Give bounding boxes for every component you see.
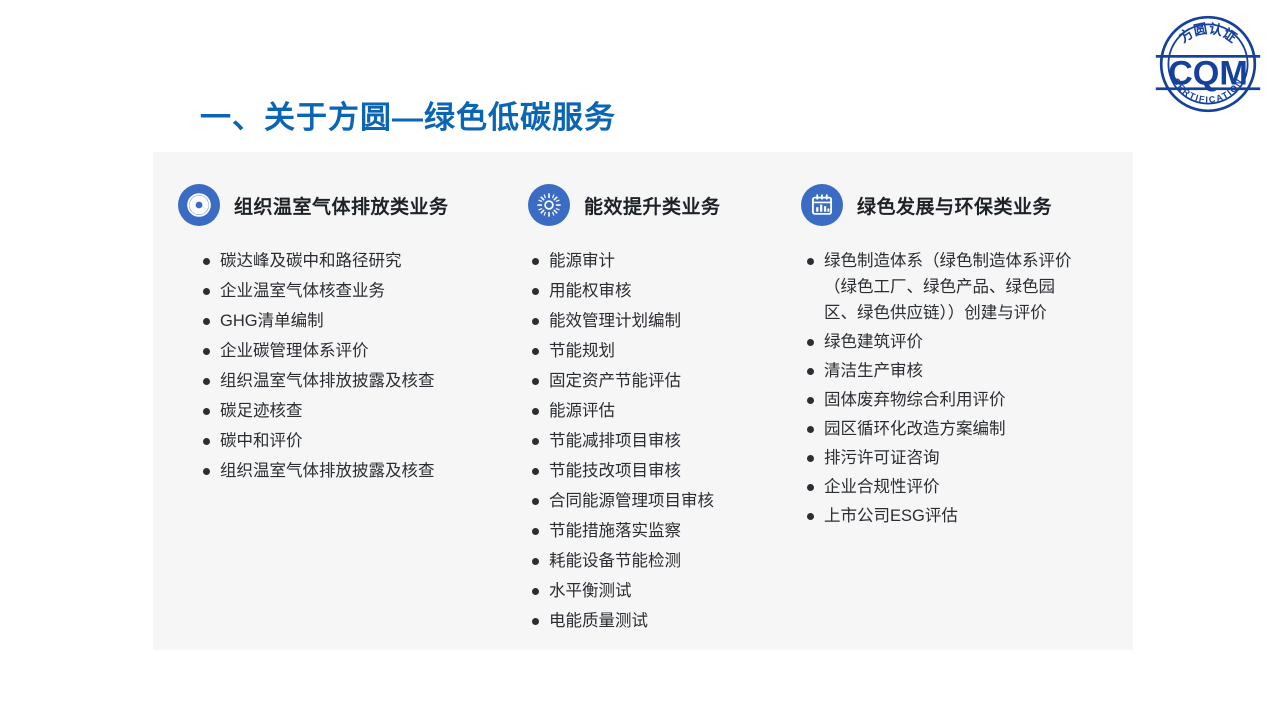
list-item: 节能规划 bbox=[532, 338, 801, 364]
list-item: 耗能设备节能检测 bbox=[532, 548, 801, 574]
service-list-green-development: 绿色制造体系（绿色制造体系评价（绿色工厂、绿色产品、绿色园区、绿色供应链））创建… bbox=[807, 248, 1133, 529]
list-item: 水平衡测试 bbox=[532, 578, 801, 604]
list-item: 节能措施落实监察 bbox=[532, 518, 801, 544]
list-item: 电能质量测试 bbox=[532, 608, 801, 634]
list-item: 能效管理计划编制 bbox=[532, 308, 801, 334]
cqm-certification-logo: 方圆认证 CERTIFICATION CQM bbox=[1154, 8, 1262, 120]
list-item: 上市公司ESG评估 bbox=[807, 503, 1133, 529]
list-item: 园区循环化改造方案编制 bbox=[807, 416, 1133, 442]
list-item: 碳中和评价 bbox=[203, 428, 519, 454]
column-green-development: 绿色发展与环保类业务 绿色制造体系（绿色制造体系评价（绿色工厂、绿色产品、绿色园… bbox=[801, 152, 1133, 532]
list-item: 组织温室气体排放披露及核查 bbox=[203, 368, 519, 394]
list-item: 清洁生产审核 bbox=[807, 358, 1133, 384]
page-title: 一、关于方圆—绿色低碳服务 bbox=[200, 92, 616, 137]
services-panel: 组织温室气体排放类业务 碳达峰及碳中和路径研究 企业温室气体核查业务 GHG清单… bbox=[153, 152, 1133, 650]
list-item: GHG清单编制 bbox=[203, 308, 519, 334]
column-energy-efficiency: 能效提升类业务 能源审计 用能权审核 能效管理计划编制 节能规划 固定资产节能评… bbox=[519, 152, 801, 638]
column-header-green-development: 绿色发展与环保类业务 bbox=[801, 184, 1133, 226]
list-item: 企业温室气体核查业务 bbox=[203, 278, 519, 304]
list-item: 组织温室气体排放披露及核查 bbox=[203, 458, 519, 484]
column-title: 组织温室气体排放类业务 bbox=[234, 192, 449, 219]
column-title: 能效提升类业务 bbox=[584, 192, 721, 219]
list-item: 节能减排项目审核 bbox=[532, 428, 801, 454]
sun-icon bbox=[528, 184, 570, 226]
list-item: 固体废弃物综合利用评价 bbox=[807, 387, 1133, 413]
list-item: 合同能源管理项目审核 bbox=[532, 488, 801, 514]
calendar-chart-icon bbox=[801, 184, 843, 226]
list-item: 碳足迹核查 bbox=[203, 398, 519, 424]
list-item: 绿色建筑评价 bbox=[807, 329, 1133, 355]
list-item: 企业合规性评价 bbox=[807, 474, 1133, 500]
list-item: 能源审计 bbox=[532, 248, 801, 274]
list-item: 碳达峰及碳中和路径研究 bbox=[203, 248, 519, 274]
column-header-ghg-emissions: 组织温室气体排放类业务 bbox=[178, 184, 519, 226]
column-ghg-emissions: 组织温室气体排放类业务 碳达峰及碳中和路径研究 企业温室气体核查业务 GHG清单… bbox=[153, 152, 519, 488]
list-item: 绿色制造体系（绿色制造体系评价（绿色工厂、绿色产品、绿色园区、绿色供应链））创建… bbox=[807, 248, 1082, 326]
service-list-energy-efficiency: 能源审计 用能权审核 能效管理计划编制 节能规划 固定资产节能评估 能源评估 节… bbox=[532, 248, 801, 634]
column-title: 绿色发展与环保类业务 bbox=[857, 192, 1052, 219]
list-item: 节能技改项目审核 bbox=[532, 458, 801, 484]
list-item: 企业碳管理体系评价 bbox=[203, 338, 519, 364]
svg-text:CQM: CQM bbox=[1168, 55, 1248, 93]
list-item: 能源评估 bbox=[532, 398, 801, 424]
services-columns: 组织温室气体排放类业务 碳达峰及碳中和路径研究 企业温室气体核查业务 GHG清单… bbox=[153, 152, 1133, 650]
service-list-ghg-emissions: 碳达峰及碳中和路径研究 企业温室气体核查业务 GHG清单编制 企业碳管理体系评价… bbox=[203, 248, 519, 484]
list-item: 排污许可证咨询 bbox=[807, 445, 1133, 471]
aperture-icon bbox=[178, 184, 220, 226]
column-header-energy-efficiency: 能效提升类业务 bbox=[528, 184, 801, 226]
list-item: 固定资产节能评估 bbox=[532, 368, 801, 394]
list-item: 用能权审核 bbox=[532, 278, 801, 304]
